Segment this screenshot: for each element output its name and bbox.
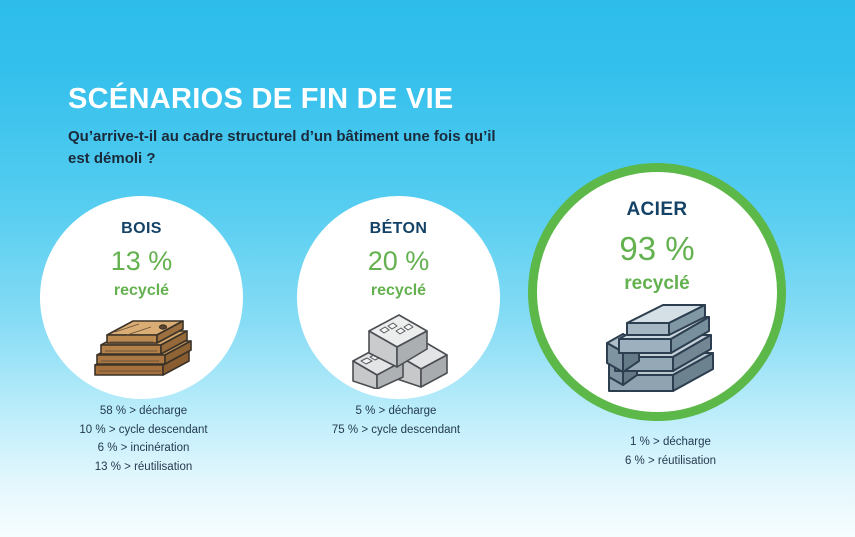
material-name-bois: BOIS (121, 220, 162, 238)
wood-stack-icon (87, 311, 197, 387)
icon-container-beton (347, 303, 451, 389)
infographic-canvas: SCÉNARIOS DE FIN DE VIE Qu’arrive-t-il a… (0, 0, 855, 537)
material-recycled-label-beton: recyclé (371, 283, 426, 299)
steel-beams-icon (593, 301, 721, 409)
material-circle-acier: ACIER 93 % recyclé (528, 163, 786, 421)
concrete-blocks-icon (347, 305, 451, 389)
material-card-acier: ACIER 93 % recyclé (528, 163, 786, 421)
material-card-bois: BOIS 13 % recyclé (40, 196, 243, 399)
material-card-beton: BÉTON 20 % recyclé (297, 196, 500, 399)
stat-line: 6 % > incinération (56, 439, 231, 458)
stat-line: 1 % > décharge (583, 433, 758, 452)
material-percent-bois: 13 % (111, 248, 173, 275)
stat-line: 58 % > décharge (56, 402, 231, 421)
stats-list-acier: 1 % > décharge 6 % > réutilisation (583, 433, 758, 470)
stat-line: 6 % > réutilisation (583, 452, 758, 471)
material-recycled-label-bois: recyclé (114, 283, 169, 299)
material-percent-acier: 93 % (619, 232, 694, 265)
stat-line: 5 % > décharge (306, 402, 486, 421)
stat-line: 75 % > cycle descendant (306, 421, 486, 440)
header-block: SCÉNARIOS DE FIN DE VIE Qu’arrive-t-il a… (68, 84, 588, 169)
stats-list-bois: 58 % > décharge 10 % > cycle descendant … (56, 402, 231, 477)
stat-line: 10 % > cycle descendant (56, 421, 231, 440)
material-name-beton: BÉTON (370, 220, 428, 238)
material-circle-beton: BÉTON 20 % recyclé (297, 196, 500, 399)
page-subtitle: Qu’arrive-t-il au cadre structurel d’un … (68, 126, 518, 169)
stats-list-beton: 5 % > décharge 75 % > cycle descendant (306, 402, 486, 439)
material-percent-beton: 20 % (368, 248, 430, 275)
material-circle-bois: BOIS 13 % recyclé (40, 196, 243, 399)
material-name-acier: ACIER (626, 199, 687, 221)
material-recycled-label-acier: recyclé (624, 274, 690, 293)
icon-container-acier (593, 299, 721, 409)
stat-line: 13 % > réutilisation (56, 458, 231, 477)
icon-container-bois (87, 307, 197, 387)
page-title: SCÉNARIOS DE FIN DE VIE (68, 84, 588, 114)
